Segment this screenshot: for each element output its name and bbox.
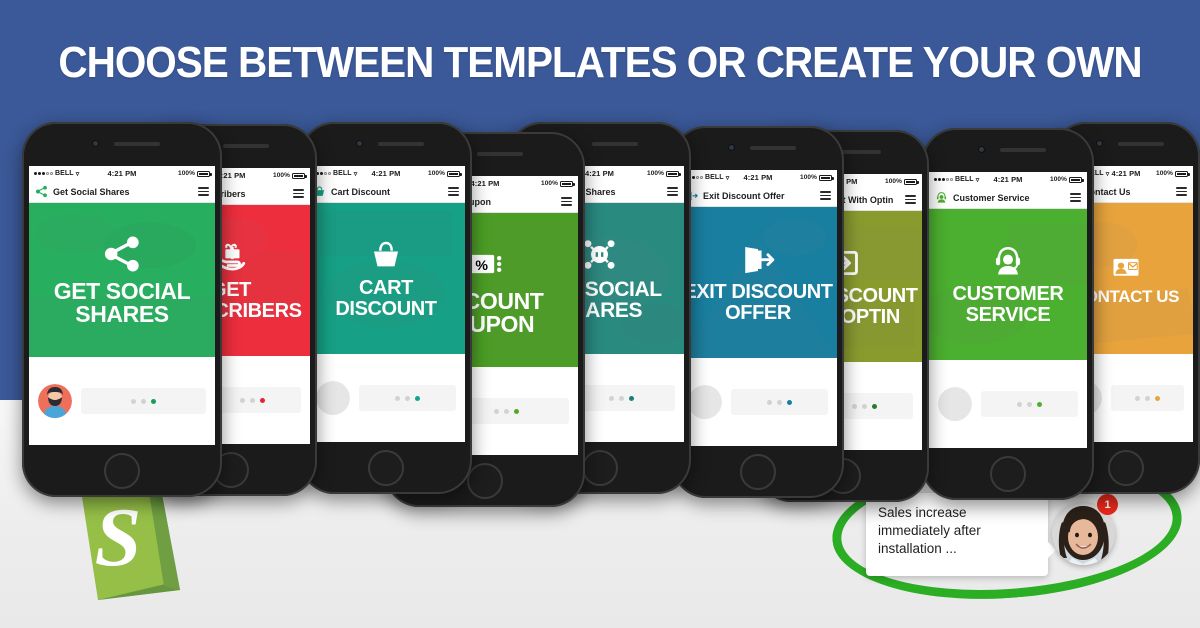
phone-screen: BELL ▿ 4:21 PM 100% Get Social Shares	[29, 166, 215, 445]
share-nodes-icon	[102, 234, 142, 274]
earpiece-speaker	[477, 152, 523, 156]
hamburger-menu-icon[interactable]	[905, 195, 916, 204]
earpiece-speaker	[750, 146, 796, 150]
exit-door-icon	[741, 242, 775, 276]
status-bar: BELL ▿ 4:21 PM 100%	[929, 172, 1087, 187]
app-title-label: Cart Discount	[331, 187, 443, 197]
earpiece-speaker	[1118, 142, 1164, 146]
phone-mockup-3: BELL ▿ 4:21 PM 100% Cart Discount	[300, 122, 472, 494]
battery-percent-label: 100%	[1156, 170, 1173, 177]
typing-indicator	[981, 391, 1078, 417]
phone-top-bezel	[672, 126, 844, 170]
hero-title-label: CART DISCOUNT	[333, 278, 438, 319]
notification-badge: 1	[1097, 494, 1118, 515]
clock-label: 4:21 PM	[743, 173, 772, 182]
app-header-bar: Cart Discount	[307, 181, 465, 203]
home-button[interactable]	[1108, 450, 1144, 486]
notification-preview	[29, 357, 215, 445]
template-hero: GET SOCIAL SHARES	[29, 203, 215, 357]
home-button[interactable]	[368, 450, 404, 486]
earpiece-speaker	[223, 144, 269, 148]
phone-screen: BELL ▿ 4:21 PM 100% Exit Discount Offer	[679, 170, 837, 446]
hamburger-menu-icon[interactable]	[1176, 187, 1187, 196]
phone-top-bezel	[300, 122, 472, 166]
phone-mockup-1: BELL ▿ 4:21 PM 100% Get Social Shares	[22, 122, 222, 497]
home-button[interactable]	[990, 456, 1026, 492]
poster-stage: CHOOSE BETWEEN TEMPLATES OR CREATE YOUR …	[0, 0, 1200, 628]
typing-indicator	[731, 389, 828, 415]
app-header-bar: Exit Discount Offer	[679, 185, 837, 207]
battery-full-icon	[1175, 171, 1188, 177]
hero-title-label: CUSTOMER SERVICE	[951, 284, 1066, 325]
home-button[interactable]	[582, 450, 618, 486]
typing-indicator	[359, 385, 456, 411]
shopify-logo-letter: S	[95, 491, 142, 584]
earpiece-speaker	[378, 142, 424, 146]
template-hero: CART DISCOUNT	[307, 203, 465, 354]
battery-full-icon	[819, 175, 832, 181]
home-button[interactable]	[740, 454, 776, 490]
wifi-icon: ▿	[354, 170, 358, 178]
clock-label: 4:21 PM	[993, 175, 1022, 184]
battery-full-icon	[1069, 177, 1082, 183]
carrier-label: BELL	[55, 170, 74, 177]
app-title-label: Get Social Shares	[53, 187, 193, 197]
notification-preview	[307, 354, 465, 442]
headset-support-icon	[991, 244, 1025, 278]
front-camera-icon	[728, 144, 735, 151]
wifi-icon: ▿	[976, 176, 980, 184]
avatar	[38, 384, 72, 418]
front-camera-icon	[92, 140, 99, 147]
signal-dots-icon	[34, 172, 53, 175]
battery-full-icon	[904, 179, 917, 185]
home-button[interactable]	[104, 453, 140, 489]
battery-full-icon	[197, 171, 210, 177]
typing-indicator	[81, 388, 206, 414]
phone-screen: BELL ▿ 4:21 PM 100% Cart Discount	[307, 166, 465, 442]
clock-label: 4:21 PM	[470, 179, 499, 188]
earpiece-speaker	[1000, 148, 1046, 152]
app-header-bar: Get Social Shares	[29, 181, 215, 203]
app-share-nodes-icon	[35, 185, 48, 198]
phone-top-bezel	[22, 122, 222, 166]
avatar	[938, 387, 972, 421]
battery-percent-label: 100%	[647, 170, 664, 177]
hamburger-menu-icon[interactable]	[820, 191, 831, 200]
phone-top-bezel	[922, 128, 1094, 172]
page-title: CHOOSE BETWEEN TEMPLATES OR CREATE YOUR …	[48, 38, 1152, 88]
battery-percent-label: 100%	[885, 178, 902, 185]
clock-label: 4:21 PM	[1111, 169, 1140, 178]
template-hero: CUSTOMER SERVICE	[929, 209, 1087, 360]
battery-percent-label: 100%	[1050, 176, 1067, 183]
app-title-label: Contact Us	[1083, 187, 1171, 197]
status-bar: BELL ▿ 4:21 PM 100%	[29, 166, 215, 181]
clock-label: 4:21 PM	[585, 169, 614, 178]
app-header-bar: Customer Service	[929, 187, 1087, 209]
app-title-label: Customer Service	[953, 193, 1065, 203]
typing-indicator	[1111, 385, 1184, 411]
signal-dots-icon	[934, 178, 953, 181]
notification-preview	[929, 360, 1087, 448]
notification-preview	[679, 358, 837, 446]
carrier-label: BELL	[333, 170, 352, 177]
battery-full-icon	[447, 171, 460, 177]
carrier-label: BELL	[955, 176, 974, 183]
front-camera-icon	[356, 140, 363, 147]
hamburger-menu-icon[interactable]	[293, 189, 304, 198]
avatar	[688, 385, 722, 419]
clock-label: 4:21 PM	[107, 169, 136, 178]
speech-bubble: Sales increase immediately after install…	[866, 493, 1048, 576]
hamburger-menu-icon[interactable]	[667, 187, 678, 196]
app-title-label: Exit Discount Offer	[703, 191, 815, 201]
front-camera-icon	[978, 146, 985, 153]
status-bar: BELL ▿ 4:21 PM 100%	[307, 166, 465, 181]
earpiece-speaker	[592, 142, 638, 146]
front-camera-icon	[1096, 140, 1103, 147]
home-button[interactable]	[467, 463, 503, 499]
social-group-icon	[581, 236, 618, 273]
hamburger-menu-icon[interactable]	[561, 197, 572, 206]
status-bar: BELL ▿ 4:21 PM 100%	[679, 170, 837, 185]
phone-screen: BELL ▿ 4:21 PM 100% Customer Service	[929, 172, 1087, 448]
hamburger-menu-icon[interactable]	[1070, 193, 1081, 202]
hamburger-menu-icon[interactable]	[448, 187, 459, 196]
carrier-label: BELL	[705, 174, 724, 181]
hamburger-menu-icon[interactable]	[198, 187, 209, 196]
battery-full-icon	[292, 173, 305, 179]
svg-text:%: %	[475, 257, 488, 273]
battery-full-icon	[560, 181, 573, 187]
contact-card-icon	[1111, 252, 1141, 282]
battery-percent-label: 100%	[273, 172, 290, 179]
shopping-basket-icon	[369, 238, 403, 272]
hero-title-label: EXIT DISCOUNT OFFER	[681, 282, 834, 323]
wifi-icon: ▿	[76, 170, 80, 178]
template-hero: EXIT DISCOUNT OFFER	[679, 207, 837, 358]
battery-percent-label: 100%	[541, 180, 558, 187]
battery-full-icon	[666, 171, 679, 177]
phone-mockup-6: BELL ▿ 4:21 PM 100% Exit Discount Offer	[672, 126, 844, 498]
hero-title-label: GET SOCIAL SHARES	[52, 280, 193, 327]
wifi-icon: ▿	[726, 174, 730, 182]
battery-percent-label: 100%	[428, 170, 445, 177]
clock-label: 4:21 PM	[371, 169, 400, 178]
app-headset-support-icon	[935, 191, 948, 204]
phone-mockup-8: BELL ▿ 4:21 PM 100% Customer Service	[922, 128, 1094, 500]
battery-percent-label: 100%	[178, 170, 195, 177]
battery-percent-label: 100%	[800, 174, 817, 181]
earpiece-speaker	[114, 142, 160, 146]
avatar	[316, 381, 350, 415]
wifi-icon: ▿	[1106, 170, 1110, 178]
callout-message: Sales increase immediately after install…	[878, 505, 981, 556]
